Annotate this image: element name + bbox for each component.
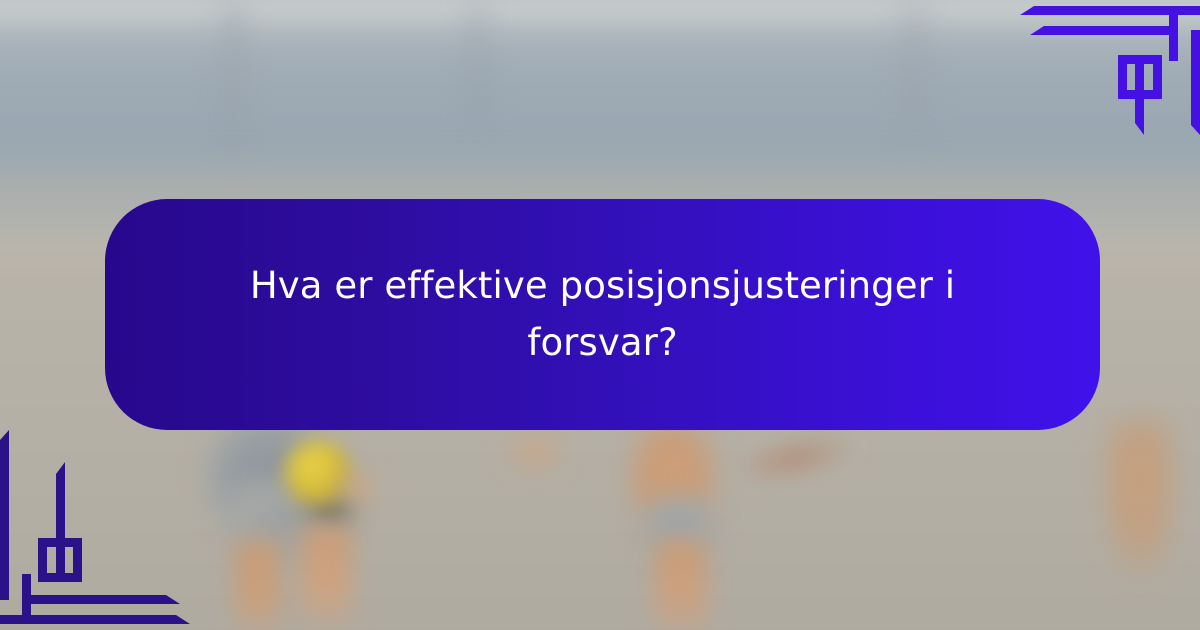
corner-tr-connector [1169, 6, 1178, 61]
background-player-right-arm [500, 432, 570, 472]
question-text: Hva er effektive posisjonsjusteringer i … [201, 258, 1004, 370]
background-player-left-leg-1 [235, 540, 281, 630]
corner-tr-square-glyph [1118, 55, 1162, 99]
background-player-far-right [1105, 420, 1175, 570]
corner-bl-bar-inner [22, 595, 180, 604]
corner-bl-square-glyph [38, 538, 82, 582]
background-player-right-leg [655, 540, 707, 630]
background-pole-left [225, 0, 241, 150]
corner-frame-top-right [995, 0, 1200, 135]
corner-bl-connector [22, 574, 31, 624]
background-pole-right [905, 0, 923, 140]
corner-tr-bar-inner [1030, 26, 1178, 35]
corner-bl-edge-rule [0, 430, 9, 600]
corner-frame-bottom-left [0, 430, 215, 630]
corner-tr-edge-rule [1191, 30, 1200, 135]
background-player-left-leg-2 [300, 525, 352, 630]
background-player-left-arm [330, 465, 382, 509]
background-pole-middle [470, 0, 484, 120]
question-card: Hva er effektive posisjonsjusteringer i … [105, 199, 1100, 430]
